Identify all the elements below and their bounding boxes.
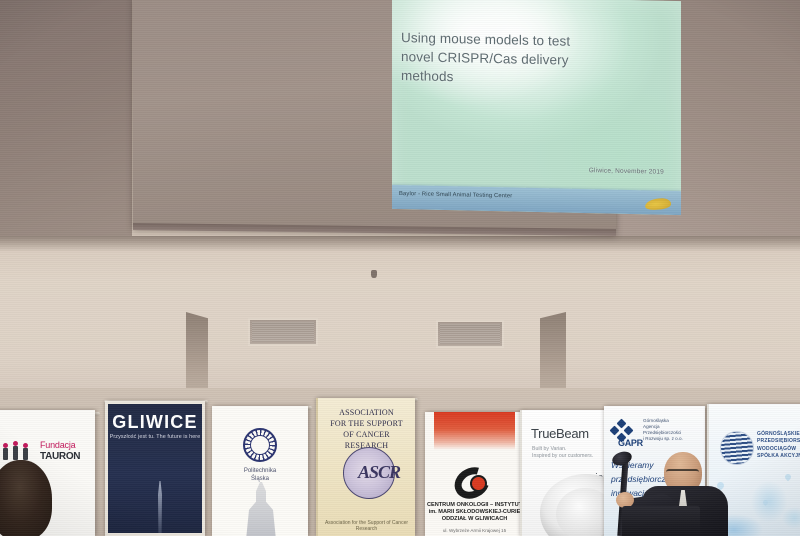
- politechnika-building-illustration: [236, 482, 286, 536]
- left-wall-shadow: [0, 0, 132, 252]
- centrum-onkologii-address: ul. Wybrzeże Armii Krajowej 15: [425, 528, 524, 533]
- wall-vent-right: [436, 320, 504, 348]
- centrum-onkologii-logo-icon: [454, 468, 494, 498]
- gliwice-title: GLIWICE: [108, 412, 202, 433]
- banner-centrum-onkologii: CENTRUM ONKOLOGII – INSTYTUT im. MARII S…: [425, 412, 524, 536]
- ceiling-sensor-icon: [371, 270, 377, 278]
- slide-date-line: Gliwice, November 2019: [589, 167, 664, 176]
- tauron-label-fundacja: Fundacja: [40, 440, 75, 450]
- slide-footer-text: Baylor - Rice Small Animal Testing Cente…: [399, 191, 512, 199]
- politechnika-title: Politechnika Śląska: [212, 468, 308, 483]
- politechnika-crest-icon: [243, 428, 277, 462]
- tauron-people-icon: [3, 442, 37, 462]
- banner-gliwice: GLIWICE Przyszłość jest tu. The future i…: [105, 401, 205, 536]
- ascr-seal-text: ASCR: [358, 462, 400, 483]
- gliwice-subtitle: Przyszłość jest tu. The future is here: [108, 434, 202, 440]
- slide-footer-bar: Baylor - Rice Small Animal Testing Cente…: [392, 185, 681, 215]
- wall-shadow-band: [0, 236, 800, 252]
- lectern: [622, 506, 700, 536]
- wall-vent-left: [248, 318, 318, 346]
- centrum-onkologii-title: CENTRUM ONKOLOGII – INSTYTUT im. MARII S…: [426, 502, 523, 523]
- presentation-slide: Using mouse models to test novel CRISPR/…: [392, 0, 681, 215]
- slide-title: Using mouse models to test novel CRISPR/…: [401, 28, 631, 90]
- gold-swoosh-logo-icon: [644, 198, 671, 211]
- gapr-abbreviation: GAPR: [618, 438, 643, 448]
- ascr-seal-caption: Association for the Support of Cancer Re…: [318, 520, 415, 532]
- ascr-seal-icon: ASCR: [343, 447, 395, 499]
- banner-association-cancer-research: ASSOCIATION FOR THE SUPPORT OF CANCER RE…: [316, 398, 415, 536]
- centrum-onkologii-red-header: [434, 412, 515, 450]
- truebeam-subtitle: Built by Varian. Inspired by our custome…: [532, 446, 593, 460]
- wodociagi-title: GÓRNOŚLĄSKIE PRZEDSIĘBIORSTWO WODOCIĄGÓW…: [757, 431, 800, 461]
- tauron-label-tauron: TAURON: [40, 451, 80, 462]
- photo-scene: Using mouse models to test novel CRISPR/…: [0, 0, 800, 536]
- projection-screen-panel: Using mouse models to test novel CRISPR/…: [133, 0, 616, 231]
- ascr-title: ASSOCIATION FOR THE SUPPORT OF CANCER RE…: [321, 407, 412, 451]
- banner-politechnika-slaska: Politechnika Śląska: [212, 406, 308, 536]
- gliwice-radio-tower-icon: [155, 481, 165, 533]
- gapr-organization-name: Górnośląska Agencja Przedsiębiorczości i…: [643, 418, 683, 442]
- glasses-icon: [666, 469, 699, 476]
- truebeam-title: TrueBeam: [531, 426, 589, 441]
